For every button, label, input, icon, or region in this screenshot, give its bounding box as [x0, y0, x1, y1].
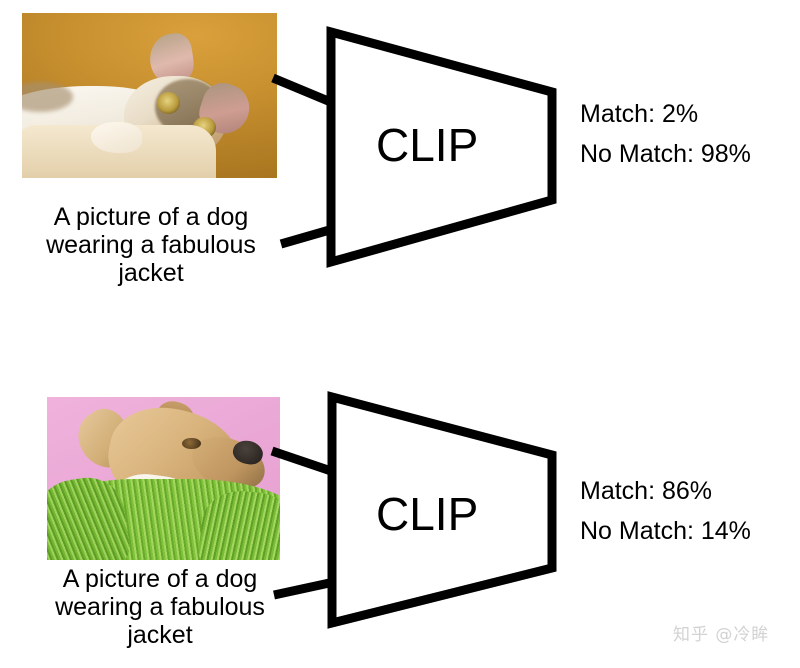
score-no-match-bottom: No Match: 14%	[580, 517, 751, 546]
diagram-canvas: CLIP CLIP A picture of a dog wearing a f…	[0, 0, 800, 668]
prompt-caption-bottom: A picture of a dog wearing a fabulous ja…	[20, 565, 300, 649]
score-match-bottom: Match: 86%	[580, 477, 712, 506]
cat-eye-left	[157, 92, 180, 113]
dog-eye	[182, 438, 201, 449]
prompt-caption-top: A picture of a dog wearing a fabulous ja…	[16, 203, 286, 287]
cat-paw	[91, 122, 142, 153]
dog-photo	[47, 397, 280, 560]
cat-photo	[22, 13, 277, 178]
connector-text-to-clip-top	[281, 229, 333, 244]
connector-image-to-clip-bottom	[272, 451, 334, 472]
score-no-match-top: No Match: 98%	[580, 140, 751, 169]
connector-image-to-clip-top	[273, 78, 333, 103]
clip-model-label-top: CLIP	[376, 118, 478, 172]
clip-model-label-bottom: CLIP	[376, 487, 478, 541]
score-match-top: Match: 2%	[580, 100, 698, 129]
watermark: 知乎 @冷眸	[673, 620, 769, 645]
